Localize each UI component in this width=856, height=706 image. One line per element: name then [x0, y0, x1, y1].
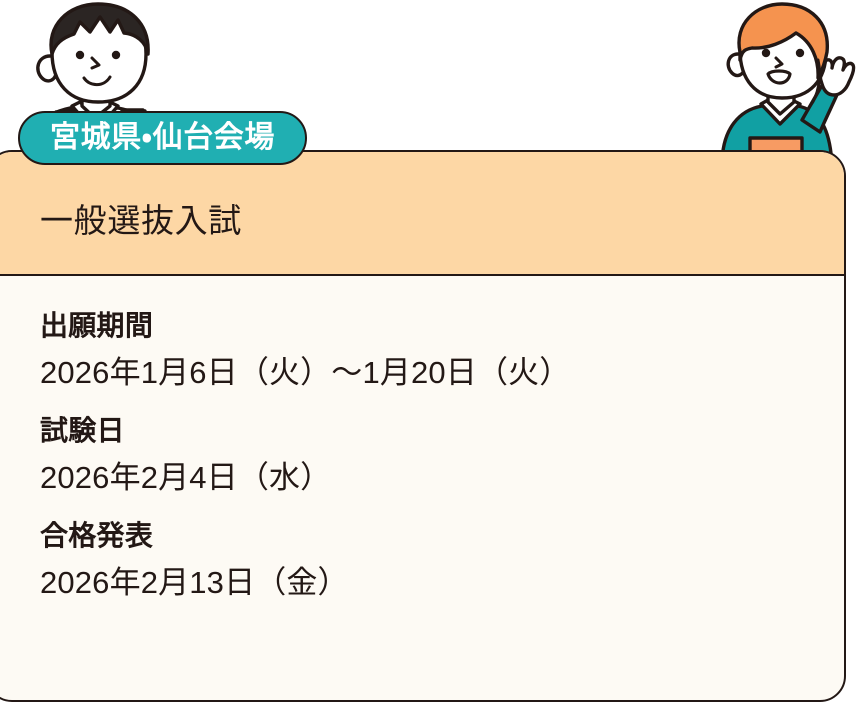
girl-eye-right: [796, 49, 804, 57]
girl-eye-left: [762, 49, 770, 57]
schoolgirl-illustration: [706, 0, 856, 165]
boy-eye-right: [112, 51, 120, 59]
schedule-row-application: 出願期間 2026年1月6日（火）〜1月20日（火）: [40, 310, 844, 391]
schedule-value-application: 2026年1月6日（火）〜1月20日（火）: [40, 355, 844, 391]
schedule-label-results: 合格発表: [40, 520, 844, 552]
schedule-value-exam-date: 2026年2月4日（水）: [40, 460, 844, 496]
card-header-band: 一般選抜入試: [0, 152, 844, 276]
schedule-label-application: 出願期間: [40, 310, 844, 342]
exam-type-title: 一般選抜入試: [40, 204, 242, 237]
venue-badge: 宮城県・仙台会場: [18, 111, 307, 165]
boy-eye-left: [76, 51, 84, 59]
schedule-row-results: 合格発表 2026年2月13日（金）: [40, 520, 844, 601]
schedule-list: 出願期間 2026年1月6日（火）〜1月20日（火） 試験日 2026年2月4日…: [0, 278, 844, 700]
girl-mouth: [768, 71, 790, 83]
schedule-value-results: 2026年2月13日（金）: [40, 565, 844, 601]
schedule-row-exam-date: 試験日 2026年2月4日（水）: [40, 415, 844, 496]
exam-info-card: 一般選抜入試 出願期間 2026年1月6日（火）〜1月20日（火） 試験日 20…: [0, 150, 846, 702]
venue-badge-label: 宮城県・仙台会場: [50, 123, 275, 153]
schedule-label-exam-date: 試験日: [40, 415, 844, 447]
schoolgirl-character: [706, 0, 856, 165]
